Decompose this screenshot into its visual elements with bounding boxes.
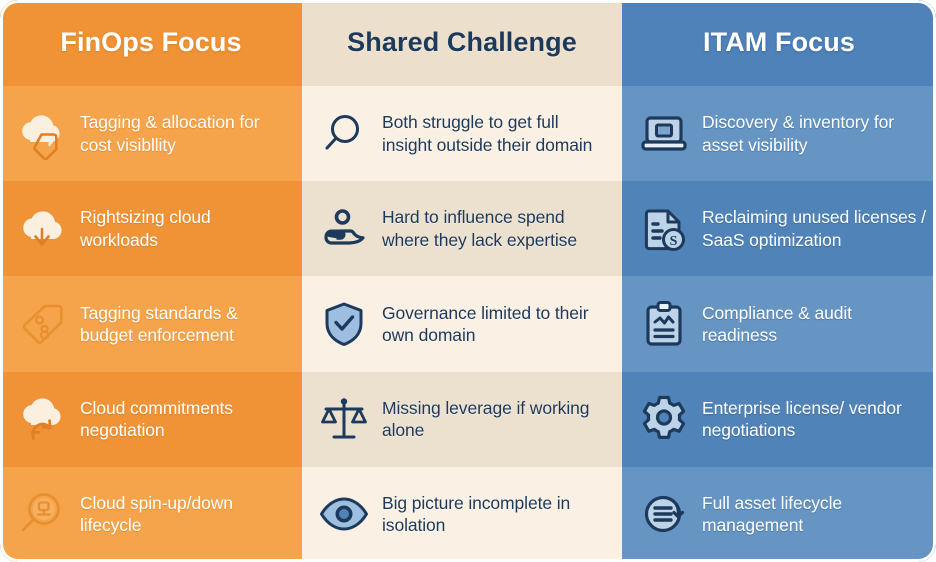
row-label: Discovery & inventory for asset visibili… xyxy=(702,111,926,156)
column-header-finops: FinOps Focus xyxy=(0,0,302,86)
gear-icon xyxy=(636,391,692,447)
column-finops: FinOps Focus Tagging & allocation for co… xyxy=(0,0,302,562)
clipboard-icon xyxy=(636,296,692,352)
row-shared-1: Both struggle to get full insight outsid… xyxy=(302,86,622,181)
row-finops-3: Tagging standards & budget enforcement xyxy=(0,276,302,371)
row-label: Reclaiming unused licenses / SaaS optimi… xyxy=(702,206,926,251)
shield-check-icon xyxy=(316,296,372,352)
price-tag-icon xyxy=(14,296,70,352)
row-label: Tagging standards & budget enforcement xyxy=(80,302,292,347)
column-header-shared: Shared Challenge xyxy=(302,0,622,86)
row-finops-1: Tagging & allocation for cost visibllity xyxy=(0,86,302,181)
row-shared-2: Hard to influence spend where they lack … xyxy=(302,181,622,276)
magnifier-server-icon xyxy=(14,486,70,542)
row-itam-2: S Reclaiming unused licenses / SaaS opti… xyxy=(622,181,936,276)
column-rows-finops: Tagging & allocation for cost visibllity… xyxy=(0,86,302,562)
column-shared: Shared Challenge Both struggle to get fu… xyxy=(302,0,622,562)
column-header-itam: ITAM Focus xyxy=(622,0,936,86)
row-label: Cloud spin-up/down lifecycle xyxy=(80,492,292,537)
row-itam-3: Compliance & audit readiness xyxy=(622,276,936,371)
column-rows-itam: Discovery & inventory for asset visibili… xyxy=(622,86,936,562)
cloud-download-icon xyxy=(14,201,70,257)
row-label: Big picture incomplete in isolation xyxy=(382,492,612,537)
row-itam-4: Enterprise license/ vendor negotiations xyxy=(622,372,936,467)
laptop-icon xyxy=(636,106,692,162)
row-shared-3: Governance limited to their own domain xyxy=(302,276,622,371)
row-itam-5: Full asset lifecycle management xyxy=(622,467,936,562)
column-rows-shared: Both struggle to get full insight outsid… xyxy=(302,86,622,562)
row-label: Compliance & audit readiness xyxy=(702,302,926,347)
hand-person-icon xyxy=(316,201,372,257)
row-finops-4: Cloud commitments negotiation xyxy=(0,372,302,467)
eye-icon xyxy=(316,486,372,542)
row-finops-2: Rightsizing cloud workloads xyxy=(0,181,302,276)
row-label: Full asset lifecycle management xyxy=(702,492,926,537)
column-title-itam: ITAM Focus xyxy=(703,28,855,58)
cloud-refresh-icon xyxy=(14,391,70,447)
document-dollar-icon: S xyxy=(636,201,692,257)
row-label: Cloud commitments negotiation xyxy=(80,397,292,442)
scales-icon xyxy=(316,391,372,447)
comparison-board: FinOps Focus Tagging & allocation for co… xyxy=(0,0,936,562)
column-title-finops: FinOps Focus xyxy=(60,28,241,58)
lifecycle-icon xyxy=(636,486,692,542)
column-itam: ITAM Focus Discovery & inventory for ass… xyxy=(622,0,936,562)
row-label: Missing leverage if working alone xyxy=(382,397,612,442)
row-label: Governance limited to their own domain xyxy=(382,302,612,347)
row-itam-1: Discovery & inventory for asset visibili… xyxy=(622,86,936,181)
row-label: Hard to influence spend where they lack … xyxy=(382,206,612,251)
row-label: Tagging & allocation for cost visibllity xyxy=(80,111,292,156)
row-shared-5: Big picture incomplete in isolation xyxy=(302,467,622,562)
column-title-shared: Shared Challenge xyxy=(347,28,577,58)
row-label: Enterprise license/ vendor negotiations xyxy=(702,397,926,442)
row-shared-4: Missing leverage if working alone xyxy=(302,372,622,467)
cloud-tag-icon xyxy=(14,106,70,162)
svg-text:S: S xyxy=(670,234,678,249)
magnifier-icon xyxy=(316,106,372,162)
row-label: Both struggle to get full insight outsid… xyxy=(382,111,612,156)
row-finops-5: Cloud spin-up/down lifecycle xyxy=(0,467,302,562)
row-label: Rightsizing cloud workloads xyxy=(80,206,292,251)
